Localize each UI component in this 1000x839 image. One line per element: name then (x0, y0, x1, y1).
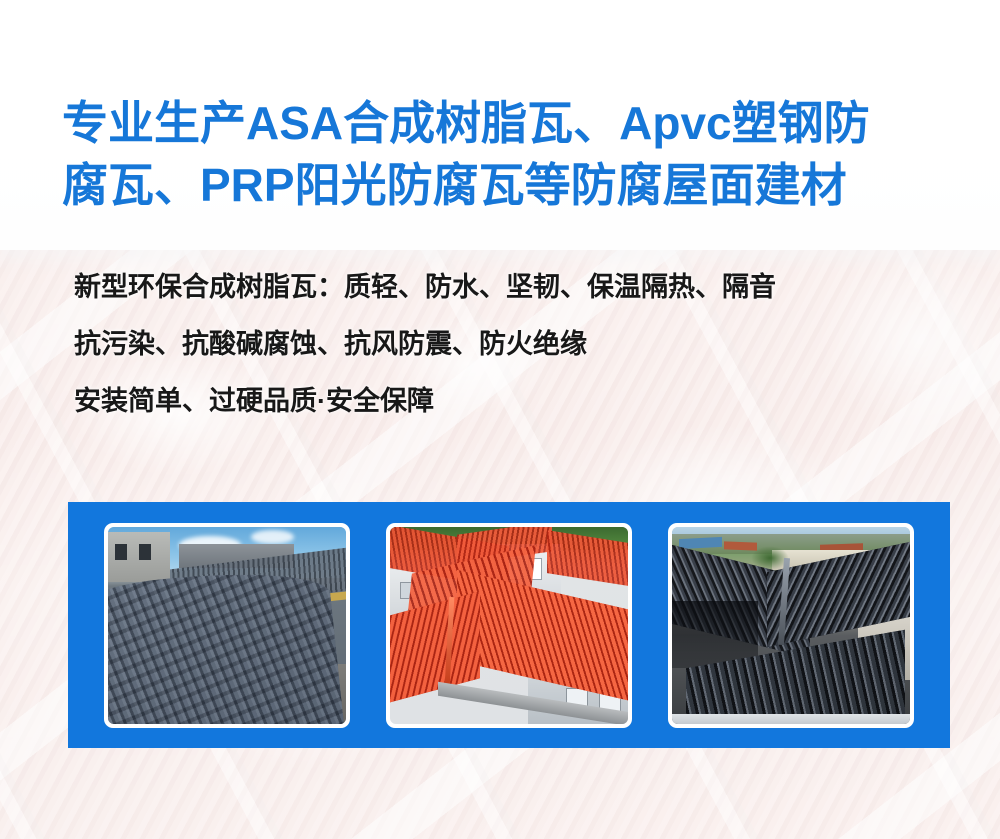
product-gallery-panel (68, 502, 950, 748)
product-promo-banner: 专业生产ASA合成树脂瓦、Apvc塑钢防 腐瓦、PRP阳光防腐瓦等防腐屋面建材 … (0, 0, 1000, 839)
grey-resin-tile-roof-photo[interactable] (108, 527, 346, 724)
photo3-foreground-strip (672, 714, 910, 724)
gallery-photo-frame-1[interactable] (104, 523, 350, 728)
banner-title: 专业生产ASA合成树脂瓦、Apvc塑钢防 腐瓦、PRP阳光防腐瓦等防腐屋面建材 (62, 92, 952, 216)
photo1-main-tiled-roof (108, 562, 345, 724)
photo1-cloud-right-icon (251, 530, 294, 544)
black-resin-tile-roof-photo[interactable] (672, 527, 910, 724)
banner-subtitle: 新型环保合成树脂瓦：质轻、防水、坚韧、保温隔热、隔音 抗污染、抗酸碱腐蚀、抗风防… (74, 272, 954, 416)
photo1-window-a (115, 544, 127, 560)
red-resin-tile-roof-photo[interactable] (390, 527, 628, 724)
banner-title-line-2: 腐瓦、PRP阳光防腐瓦等防腐屋面建材 (62, 154, 952, 216)
gallery-photo-frame-2[interactable] (386, 523, 632, 728)
photo1-window-b (139, 544, 151, 560)
subtitle-line-features: 新型环保合成树脂瓦：质轻、防水、坚韧、保温隔热、隔音 (74, 272, 954, 302)
banner-title-line-1: 专业生产ASA合成树脂瓦、Apvc塑钢防 (62, 92, 952, 154)
subtitle-line-quality: 安装简单、过硬品质·安全保障 (74, 386, 954, 416)
gallery-photo-frame-3[interactable] (668, 523, 914, 728)
subtitle-line-resistance: 抗污染、抗酸碱腐蚀、抗风防震、防火绝缘 (74, 329, 954, 359)
